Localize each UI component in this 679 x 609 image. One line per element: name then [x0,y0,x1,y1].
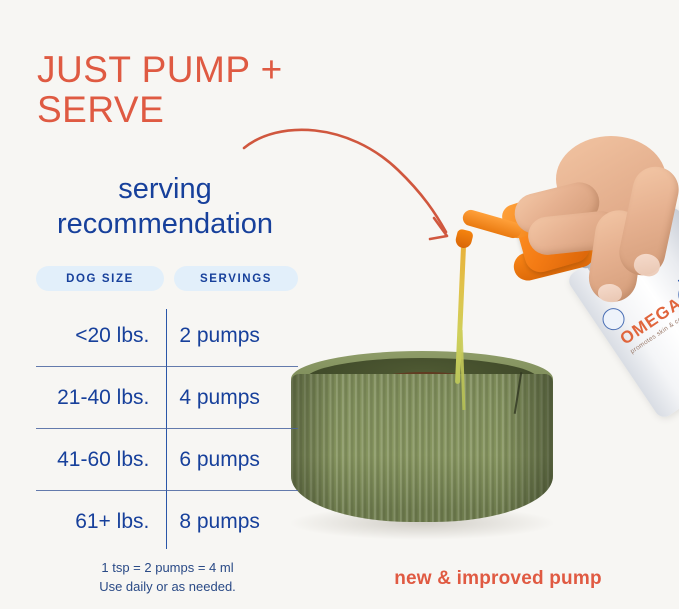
pump-cap [513,198,594,276]
table-row: 61+ lbs. 8 pumps [36,491,298,553]
cell-dog-size: 41-60 lbs. [36,429,157,491]
bowl-shadow [288,506,556,540]
table-header-row: DOG SIZE SERVINGS [36,266,298,291]
page-title: JUST PUMP + SERVE [37,50,387,130]
bowl-seam [514,372,523,414]
cell-dog-size: <20 lbs. [36,305,157,367]
new-pump-caption: new & improved pump [363,568,633,590]
quality-seal-icon [598,304,629,335]
dosage-footnote: 1 tsp = 2 pumps = 4 ml Use daily or as n… [40,559,295,597]
footnote-line-1: 1 tsp = 2 pumps = 4 ml [40,559,295,578]
table-body: <20 lbs. 2 pumps 21-40 lbs. 4 pumps 41-6… [36,305,298,553]
cell-dog-size: 61+ lbs. [36,491,157,553]
table-row: <20 lbs. 2 pumps [36,305,298,367]
kibble-pile [330,372,520,434]
table-row: 21-40 lbs. 4 pumps [36,367,298,429]
pump-head [499,193,559,241]
cell-servings: 4 pumps [157,367,298,429]
serving-table: DOG SIZE SERVINGS <20 lbs. 2 pumps 21-40… [36,266,298,553]
hand-pressing-pump [498,136,679,306]
omega-oil-bottle: OMEGA OIL promotes skin & coat health [543,147,679,415]
footnote-line-2: Use daily or as needed. [40,578,295,597]
table-row: 41-60 lbs. 6 pumps [36,429,298,491]
cell-servings: 8 pumps [157,491,298,553]
bottle-label-title: OMEGA OIL [617,273,679,350]
oil-stream-lower [460,330,465,410]
subhead-line-1: serving [10,172,320,207]
headline-line-1: JUST PUMP + [37,50,387,90]
infographic-canvas: OMEGA OIL promotes skin & coat health [0,0,679,609]
column-header-dog-size: DOG SIZE [36,266,164,291]
column-header-servings: SERVINGS [174,266,298,291]
cell-servings: 2 pumps [157,305,298,367]
pump-collar [511,236,597,283]
bowl-body [291,374,553,522]
cell-dog-size: 21-40 lbs. [36,367,157,429]
oil-stream [455,246,466,384]
bowl-interior [305,358,539,402]
bowl-rim [291,351,553,407]
serving-recommendation-heading: serving recommendation [10,172,320,243]
bottle-label-subtitle: promotes skin & coat health [629,300,679,355]
cell-servings: 6 pumps [157,429,298,491]
subhead-line-2: recommendation [10,207,320,242]
headline-line-2: SERVE [37,90,387,130]
dog-illustration-icon [650,254,679,368]
